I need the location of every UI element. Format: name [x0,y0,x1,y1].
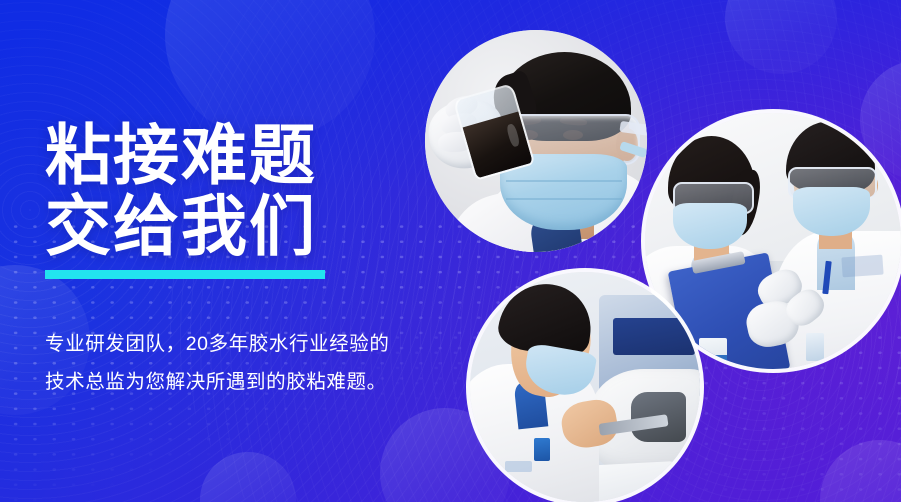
photo-technician-applying-adhesive [470,272,700,502]
photo3-chest-tag [505,461,533,473]
subtitle-line-2: 技术总监为您解决所遇到的胶粘难题。 [45,363,390,401]
photo2-coat-logo [841,255,883,278]
headline-line-1: 粘接难题 [45,120,317,191]
subtitle-block: 专业研发团队，20多年胶水行业经验的 技术总监为您解决所遇到的胶粘难题。 [45,325,390,401]
photo2-bottle [699,338,727,369]
photo3-id-badge [534,438,550,461]
headline-line-2: 交给我们 [45,191,317,262]
headline-underline-accent [45,270,325,279]
photo2-id-badge [806,333,824,361]
photo3-machine-panel [613,318,696,355]
adhesive-promo-banner: 粘接难题 交给我们 专业研发团队，20多年胶水行业经验的 技术总监为您解决所遇到… [0,0,901,502]
subtitle-line-1: 专业研发团队，20多年胶水行业经验的 [45,325,390,363]
headline-block: 粘接难题 交给我们 [45,120,317,262]
photo-scientist-with-beaker [425,30,647,252]
